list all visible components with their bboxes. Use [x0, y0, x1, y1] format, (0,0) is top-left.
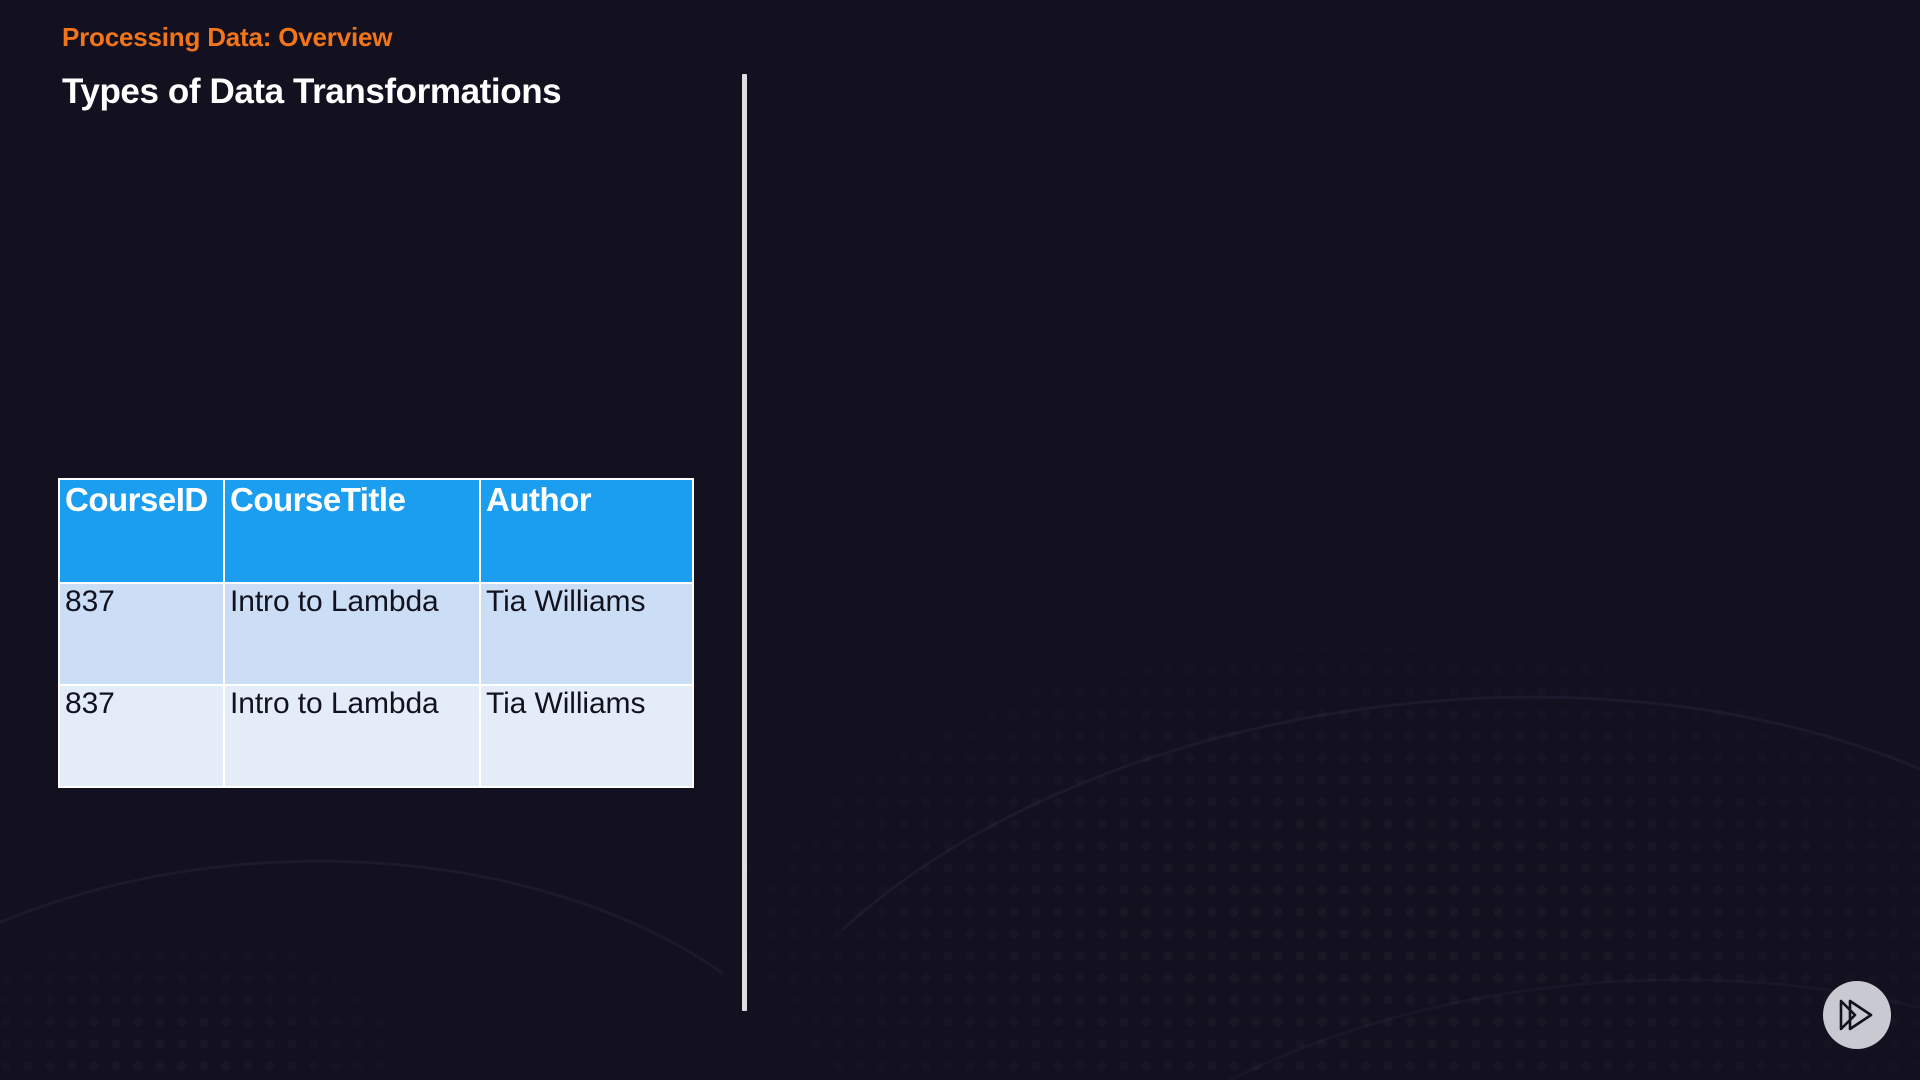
slide-canvas: Processing Data: Overview Types of Data … — [0, 0, 1920, 1080]
cell-author: Tia Williams — [480, 685, 693, 787]
table-row: 837 Intro to Lambda Tia Williams — [59, 583, 693, 685]
column-header-course-title: CourseTitle — [224, 479, 480, 583]
swoosh-curve-a — [657, 624, 1920, 1080]
cell-course-id: 837 — [59, 685, 224, 787]
table-header-row: CourseID CourseTitle Author — [59, 479, 693, 583]
table-header: CourseID CourseTitle Author — [59, 479, 693, 583]
page-title: Types of Data Transformations — [62, 72, 561, 112]
cell-course-title: Intro to Lambda — [224, 583, 480, 685]
dot-pattern-right — [480, 620, 1920, 1080]
course-table: CourseID CourseTitle Author 837 Intro to… — [58, 478, 694, 788]
swoosh-curve-c — [955, 936, 1920, 1080]
column-header-course-id: CourseID — [59, 479, 224, 583]
data-table-container: CourseID CourseTitle Author 837 Intro to… — [58, 478, 694, 788]
cell-course-title: Intro to Lambda — [224, 685, 480, 787]
double-play-icon — [1838, 998, 1876, 1032]
table-body: 837 Intro to Lambda Tia Williams 837 Int… — [59, 583, 693, 787]
column-header-author: Author — [480, 479, 693, 583]
cell-author: Tia Williams — [480, 583, 693, 685]
play-button[interactable] — [1823, 981, 1891, 1049]
dot-pattern-left — [0, 840, 760, 1080]
table-row: 837 Intro to Lambda Tia Williams — [59, 685, 693, 787]
cell-course-id: 837 — [59, 583, 224, 685]
vertical-divider — [742, 74, 747, 1011]
slide-eyebrow: Processing Data: Overview — [62, 22, 392, 53]
